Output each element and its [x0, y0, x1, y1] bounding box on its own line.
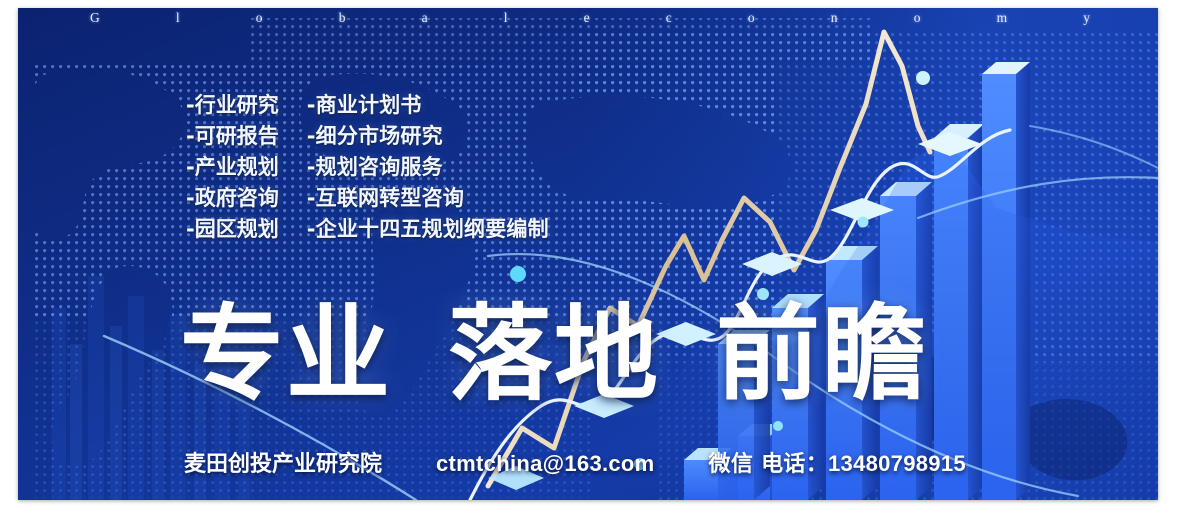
- service-item: -可研报告: [186, 121, 279, 152]
- phone-number[interactable]: 13480798915: [828, 451, 966, 476]
- top-letter-12: y: [1083, 10, 1090, 26]
- top-letter-5: l: [504, 10, 508, 26]
- top-letter-6: e: [584, 10, 590, 26]
- service-list: -行业研究 -可研报告 -产业规划 -政府咨询 -园区规划 -商业计划书 -细分…: [186, 90, 549, 245]
- service-item: -商业计划书: [307, 90, 549, 121]
- top-letter-11: m: [997, 10, 1008, 26]
- top-letter-4: a: [422, 10, 428, 26]
- top-letter-7: c: [666, 10, 672, 26]
- service-column-left: -行业研究 -可研报告 -产业规划 -政府咨询 -园区规划: [186, 90, 279, 245]
- contact-email[interactable]: ctmtchina@163.com: [436, 451, 655, 477]
- contact-row: 麦田创投产业研究院 ctmtchina@163.com 微信 电话：134807…: [184, 446, 966, 478]
- top-letter-9: n: [831, 10, 838, 26]
- service-item: -规划咨询服务: [307, 152, 549, 183]
- background-artwork: [18, 8, 1158, 500]
- service-item: -园区规划: [186, 214, 279, 245]
- top-letter-10: o: [914, 10, 921, 26]
- service-item: -产业规划: [186, 152, 279, 183]
- service-item: -政府咨询: [186, 183, 279, 214]
- service-column-right: -商业计划书 -细分市场研究 -规划咨询服务 -互联网转型咨询 -企业十四五规划…: [307, 90, 549, 245]
- service-item: -互联网转型咨询: [307, 183, 549, 214]
- headline-slogan: 专业 落地 前瞻: [180, 300, 928, 408]
- service-item: -细分市场研究: [307, 121, 549, 152]
- promo-banner: G l o b a l e c o n o m y -行业研究 -可研报告 -产…: [18, 8, 1158, 500]
- service-item: -行业研究: [186, 90, 279, 121]
- top-letter-3: b: [339, 10, 346, 26]
- top-keyword-row: G l o b a l e c o n o m y: [90, 10, 1090, 26]
- slogan-word-3: 前瞻: [716, 300, 928, 408]
- company-name: 麦田创投产业研究院: [184, 446, 382, 478]
- top-letter-8: o: [748, 10, 755, 26]
- top-letter-1: l: [176, 10, 180, 26]
- slogan-word-1: 专业: [180, 300, 392, 408]
- top-letter-0: G: [90, 10, 100, 26]
- service-item: -企业十四五规划纲要编制: [307, 214, 549, 245]
- phone-label: 微信 电话：: [709, 452, 828, 477]
- contact-phone: 微信 电话：13480798915: [709, 446, 966, 478]
- top-letter-2: o: [256, 10, 263, 26]
- slogan-word-2: 落地: [448, 300, 660, 408]
